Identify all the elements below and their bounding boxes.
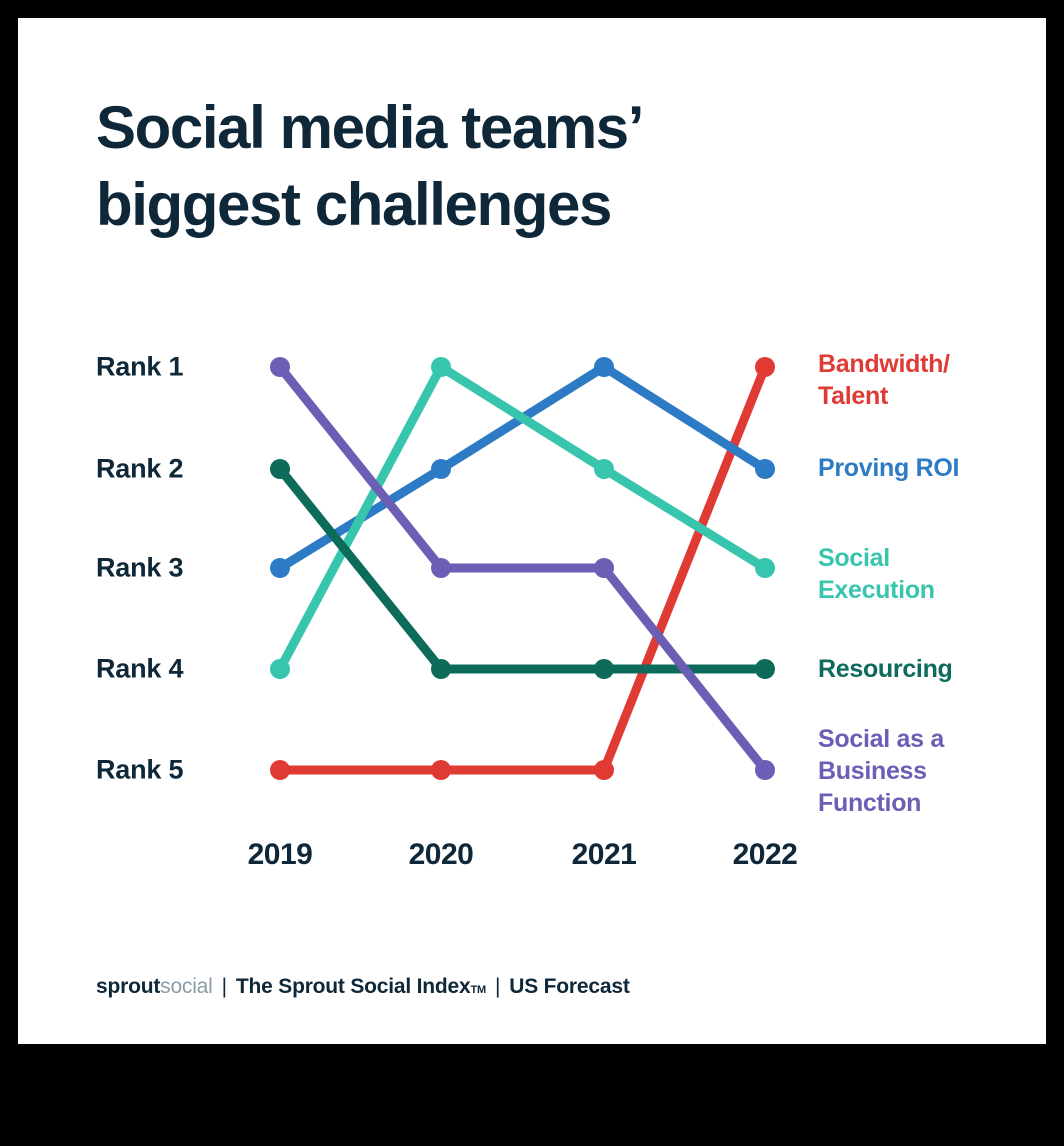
data-point-marker [594, 357, 614, 377]
data-point-marker [270, 357, 290, 377]
legend-item-bandwidth-talent: Bandwidth/ Talent [818, 348, 950, 412]
chart-plot-svg [18, 18, 1046, 1044]
footer-separator-1: | [222, 975, 227, 999]
sproutsocial-logo-light: social [160, 975, 213, 999]
infographic-card: Social media teams’ biggest challenges R… [18, 18, 1046, 1044]
legend-item-social-business-function: Social as a Business Function [818, 723, 944, 819]
data-point-marker [755, 357, 775, 377]
data-point-marker [270, 659, 290, 679]
footer-attribution: sproutsocial | The Sprout Social IndexTM… [96, 975, 630, 999]
footer-forecast-label: US Forecast [509, 975, 629, 999]
data-point-marker [755, 760, 775, 780]
data-point-marker [431, 357, 451, 377]
data-point-marker [270, 459, 290, 479]
data-point-marker [755, 459, 775, 479]
data-point-marker [594, 659, 614, 679]
legend-item-resourcing: Resourcing [818, 653, 953, 685]
data-point-marker [270, 760, 290, 780]
data-point-marker [270, 558, 290, 578]
footer-separator-2: | [495, 975, 500, 999]
legend-item-social-execution: Social Execution [818, 542, 935, 606]
trademark-icon: TM [471, 984, 486, 996]
data-point-marker [431, 558, 451, 578]
data-point-marker [594, 558, 614, 578]
legend-item-proving-roi: Proving ROI [818, 452, 959, 484]
rank-line-chart: Rank 1 Rank 2 Rank 3 Rank 4 Rank 5 2019 … [18, 18, 1046, 1044]
data-point-marker [755, 558, 775, 578]
image-frame: Social media teams’ biggest challenges R… [0, 0, 1064, 1146]
data-point-marker [431, 659, 451, 679]
data-point-marker [431, 760, 451, 780]
data-point-marker [755, 659, 775, 679]
data-point-marker [431, 459, 451, 479]
data-point-marker [594, 459, 614, 479]
data-point-marker [594, 760, 614, 780]
footer-index-label: The Sprout Social Index [236, 975, 471, 999]
sproutsocial-logo-bold: sprout [96, 975, 160, 999]
